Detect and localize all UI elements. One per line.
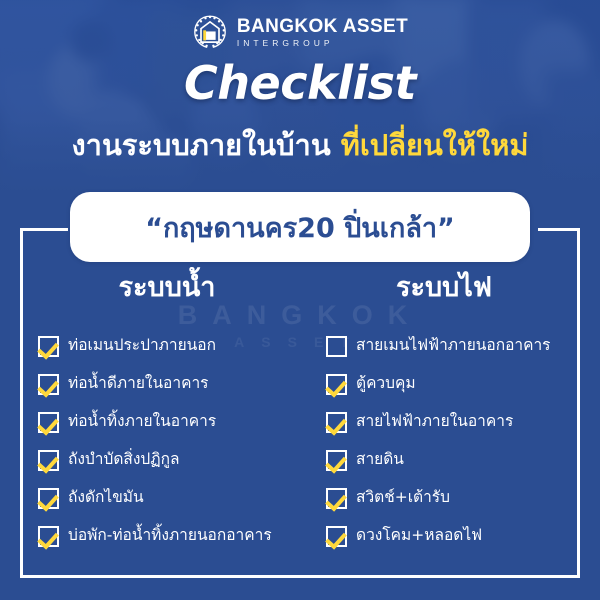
list-item-label: สายดิน [356,452,404,468]
list-item-label: ถังบำบัดสิ่งปฏิกูล [68,452,180,468]
checkbox-checked-icon[interactable] [38,374,59,395]
list-item-label: สวิตช์+เต้ารับ [356,490,450,506]
list-item[interactable]: บ่อพัก-ท่อน้ำทิ้งภายนอกอาคาร [32,517,288,555]
list-item-label: ถังดักไขมัน [68,490,144,506]
brand-tagline: INTERGROUP [237,39,408,48]
list-item[interactable]: ท่อน้ำทิ้งภายในอาคาร [32,403,288,441]
checkbox-checked-icon[interactable] [38,412,59,433]
list-item-label: สายไฟฟ้าภายในอาคาร [356,414,513,430]
list-item-label: ดวงโคม+หลอดไฟ [356,528,482,544]
subtitle-white-part: งานระบบภายในบ้าน [72,128,331,162]
list-item[interactable]: สายเมนไฟฟ้าภายนอกอาคาร [312,327,568,365]
checkbox-checked-icon[interactable] [326,450,347,471]
list-item-label: ตู้ควบคุม [356,376,416,392]
list-item[interactable]: ถังบำบัดสิ่งปฏิกูล [32,441,288,479]
list-item[interactable]: ดวงโคม+หลอดไฟ [312,517,568,555]
checkbox-unchecked-icon[interactable] [326,336,347,357]
brand-name: BANGKOK ASSET [237,17,408,36]
list-item[interactable]: ตู้ควบคุม [312,365,568,403]
checklist-column-electrical: ระบบไฟ สายเมนไฟฟ้าภายนอกอาคาร ตู้ควบคุม … [300,265,580,580]
project-title-badge: “กฤษดานคร20 ปิ่นเกล้า” [70,192,530,262]
subtitle-highlight-part: ที่เปลี่ยนให้ใหม่ [341,128,529,162]
brand-logo-block: BANGKOK ASSET INTERGROUP [0,14,600,50]
list-item-label: ท่อน้ำทิ้งภายในอาคาร [68,414,216,430]
list-item[interactable]: สวิตช์+เต้ารับ [312,479,568,517]
checkbox-checked-icon[interactable] [38,488,59,509]
project-title-text: “กฤษดานคร20 ปิ่นเกล้า” [145,206,455,249]
list-item[interactable]: สายไฟฟ้าภายในอาคาร [312,403,568,441]
list-item[interactable]: ท่อเมนประปาภายนอก [32,327,288,365]
house-laurel-wreath-icon [192,14,228,50]
checkbox-checked-icon[interactable] [326,488,347,509]
checkbox-checked-icon[interactable] [326,412,347,433]
list-item[interactable]: ถังดักไขมัน [32,479,288,517]
list-item-label: ท่อน้ำดีภายในอาคาร [68,376,208,392]
checkbox-checked-icon[interactable] [38,336,59,357]
list-item[interactable]: ท่อน้ำดีภายในอาคาร [32,365,288,403]
checkbox-checked-icon[interactable] [38,450,59,471]
checkbox-checked-icon[interactable] [38,526,59,547]
checkbox-checked-icon[interactable] [326,374,347,395]
column-heading-water: ระบบน้ำ [32,265,288,308]
column-heading-electrical: ระบบไฟ [312,265,568,308]
checkbox-checked-icon[interactable] [326,526,347,547]
list-item-label: ท่อเมนประปาภายนอก [68,338,216,354]
checklist-column-water: ระบบน้ำ ท่อเมนประปาภายนอก ท่อน้ำดีภายในอ… [20,265,300,580]
list-item-label: บ่อพัก-ท่อน้ำทิ้งภายนอกอาคาร [68,528,272,544]
checklist-poster: BANGKOK ASSET [0,0,600,600]
page-title: Checklist [0,56,600,110]
page-subtitle: งานระบบภายในบ้าน ที่เปลี่ยนให้ใหม่ [0,127,600,163]
checklist-columns: ระบบน้ำ ท่อเมนประปาภายนอก ท่อน้ำดีภายในอ… [20,265,580,580]
list-item[interactable]: สายดิน [312,441,568,479]
list-item-label: สายเมนไฟฟ้าภายนอกอาคาร [356,338,551,354]
